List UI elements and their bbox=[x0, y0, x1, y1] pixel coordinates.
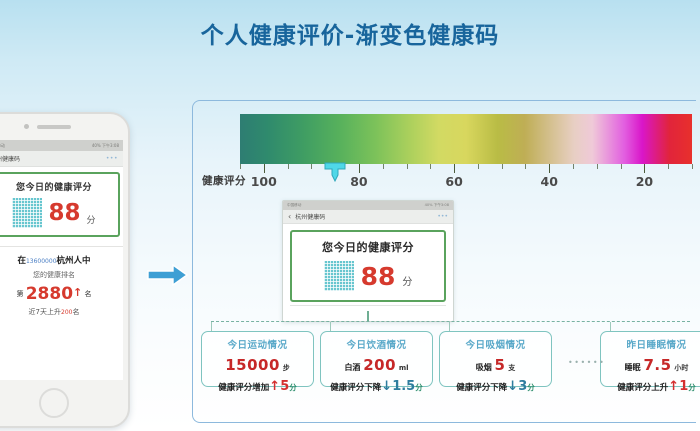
qr-code-icon[interactable] bbox=[12, 198, 42, 228]
rank-value: 2880 bbox=[26, 284, 73, 304]
metric-effect-unit: 分 bbox=[527, 383, 535, 392]
right-arrow-icon bbox=[146, 262, 190, 288]
metric-effect-value: 1.5 bbox=[392, 379, 415, 394]
rank-trend-value: 200 bbox=[61, 309, 72, 316]
scale-tick-minor bbox=[597, 164, 598, 169]
qr-code-icon[interactable] bbox=[324, 261, 354, 291]
gradient-bar bbox=[240, 114, 692, 164]
metric-effect-value: 3 bbox=[518, 379, 527, 394]
mini-health-card: 中国移动 40% 下午3:08 ‹ 杭州健康码 ••• 您今日的健康评分 88 … bbox=[282, 200, 454, 322]
scale-tick-major bbox=[549, 164, 550, 173]
metric-value: 7.5 bbox=[643, 356, 671, 374]
metric-effect-arrow-icon: ↓ bbox=[507, 379, 518, 394]
phone-statusbar: 中国移动 40% 下午3:08 bbox=[0, 140, 123, 151]
metric-effect-arrow-icon: ↑ bbox=[269, 379, 280, 394]
metric-effect-row: 健康评分上升↑1分 bbox=[601, 379, 700, 394]
scale-tick-minor bbox=[692, 164, 693, 169]
mini-navbar-title: 杭州健康码 bbox=[295, 212, 325, 221]
mini-statusbar-carrier: 中国移动 bbox=[287, 203, 301, 208]
metric-effect-label: 健康评分增加 bbox=[218, 383, 269, 393]
phone-navbar: 杭州健康码 ••• bbox=[0, 151, 123, 167]
rank-caption: 您的健康排名 bbox=[0, 270, 120, 280]
metric-value-prefix: 白酒 bbox=[344, 363, 360, 372]
scale-tick-label: 20 bbox=[636, 174, 653, 189]
scale-tick-label: 40 bbox=[541, 174, 558, 189]
mini-score-card: 您今日的健康评分 88 分 bbox=[290, 230, 446, 302]
page-title: 个人健康评价-渐变色健康码 bbox=[0, 16, 700, 50]
scale-tick-minor bbox=[478, 164, 479, 169]
scale-tick-minor bbox=[525, 164, 526, 169]
mini-statusbar-battery: 40% 下午3:08 bbox=[425, 203, 449, 208]
rank-up-arrow-icon: ↑ bbox=[73, 286, 82, 299]
metric-value: 15000 bbox=[225, 356, 280, 374]
scale-tick-major bbox=[644, 164, 645, 173]
scale-tick-minor bbox=[621, 164, 622, 169]
scale-tick-major bbox=[359, 164, 360, 173]
mini-navbar: ‹ 杭州健康码 ••• bbox=[283, 210, 453, 224]
metric-unit: 支 bbox=[508, 364, 515, 372]
metric-box[interactable]: 昨日睡眠情况睡眠 7.5 小时健康评分上升↑1分 bbox=[600, 331, 700, 387]
scale-tick-minor bbox=[502, 164, 503, 169]
scale-caption: 健康评分 bbox=[202, 173, 246, 188]
phone-top-bezel bbox=[0, 114, 128, 140]
connector-dashed-line bbox=[211, 321, 690, 322]
metric-value-row: 15000 步 bbox=[202, 356, 313, 374]
phone-camera-icon bbox=[24, 124, 29, 129]
metric-effect-arrow-icon: ↓ bbox=[381, 379, 392, 394]
metric-effect-unit: 分 bbox=[415, 383, 423, 392]
metric-title: 今日饮酒情况 bbox=[321, 337, 432, 351]
scale-marker-icon[interactable] bbox=[324, 162, 346, 182]
metric-effect-arrow-icon: ↑ bbox=[668, 379, 679, 394]
mini-score-value: 88 bbox=[361, 264, 396, 289]
mini-card-body: 您今日的健康评分 88 分 bbox=[283, 224, 453, 321]
scale-tick-labels: 10080604020 bbox=[240, 174, 692, 190]
phone-mockup: 中国移动 40% 下午3:08 杭州健康码 ••• 您今日的健康评分 88 分 … bbox=[0, 112, 130, 428]
metric-value-row: 睡眠 7.5 小时 bbox=[601, 356, 700, 374]
scale-tick-minor bbox=[240, 164, 241, 169]
metric-title: 昨日睡眠情况 bbox=[601, 337, 700, 351]
metric-value-prefix: 吸烟 bbox=[476, 363, 492, 372]
scale-tick-minor bbox=[311, 164, 312, 169]
rank-trend-unit: 名 bbox=[72, 308, 79, 316]
statusbar-carrier: 中国移动 bbox=[0, 143, 5, 149]
mini-more-options-icon[interactable]: ••• bbox=[437, 213, 448, 220]
health-score-card: 您今日的健康评分 88 分 bbox=[0, 172, 120, 237]
scale-tick-label: 80 bbox=[350, 174, 367, 189]
metric-box[interactable]: 今日吸烟情况吸烟 5 支健康评分下降↓3分 bbox=[439, 331, 552, 387]
metric-effect-label: 健康评分上升 bbox=[617, 383, 668, 393]
rank-ordinal-suffix: 名 bbox=[85, 290, 92, 298]
metric-value: 200 bbox=[363, 356, 396, 374]
rank-trend-line: 近7天上升200名 bbox=[0, 307, 120, 317]
health-score-row: 88 分 bbox=[0, 198, 115, 228]
scale-tick-major bbox=[454, 164, 455, 173]
scale-tick-major bbox=[264, 164, 265, 173]
metric-value-prefix: 睡眠 bbox=[625, 363, 641, 372]
chevron-left-icon[interactable]: ‹ bbox=[288, 212, 291, 221]
phone-speaker-icon bbox=[37, 125, 71, 129]
health-score-scale: 10080604020 bbox=[240, 114, 692, 190]
metric-effect-label: 健康评分下降 bbox=[330, 383, 381, 393]
rank-prefix: 在 bbox=[17, 256, 26, 266]
scale-tick-minor bbox=[288, 164, 289, 169]
connector-stub bbox=[330, 322, 331, 331]
metric-title: 今日运动情况 bbox=[202, 337, 313, 351]
scale-tick-label: 60 bbox=[445, 174, 462, 189]
metric-effect-row: 健康评分增加↑5分 bbox=[202, 379, 313, 394]
rank-trend-label: 近7天上升 bbox=[29, 308, 61, 316]
metric-unit: 步 bbox=[283, 364, 290, 372]
metric-value: 5 bbox=[495, 356, 506, 374]
connector-stub bbox=[449, 322, 450, 331]
metric-unit: 小时 bbox=[674, 364, 688, 372]
more-metrics-indicator: •••••• bbox=[568, 358, 605, 367]
metric-effect-row: 健康评分下降↓3分 bbox=[440, 379, 551, 394]
connector-stub bbox=[211, 322, 212, 331]
health-rank-block: 在13600000杭州人中 您的健康排名 第 2880↑ 名 近7天上升200名 bbox=[0, 246, 123, 317]
health-score-unit: 分 bbox=[87, 213, 96, 228]
mini-score-unit: 分 bbox=[402, 273, 412, 291]
rank-ordinal-prefix: 第 bbox=[16, 290, 23, 298]
metric-value-row: 白酒 200 ml bbox=[321, 356, 432, 374]
rank-suffix: 杭州人中 bbox=[57, 256, 91, 266]
scale-tick-minor bbox=[383, 164, 384, 169]
connector-stub bbox=[610, 322, 611, 331]
metric-box[interactable]: 今日饮酒情况白酒 200 ml健康评分下降↓1.5分 bbox=[320, 331, 433, 387]
phone-screen: 中国移动 40% 下午3:08 杭州健康码 ••• 您今日的健康评分 88 分 … bbox=[0, 140, 123, 380]
mini-statusbar: 中国移动 40% 下午3:08 bbox=[283, 201, 453, 210]
metric-unit: ml bbox=[399, 364, 409, 372]
metric-effect-label: 健康评分下降 bbox=[456, 383, 507, 393]
health-score-value: 88 bbox=[48, 202, 80, 225]
metric-effect-row: 健康评分下降↓1.5分 bbox=[321, 379, 432, 394]
metric-title: 今日吸烟情况 bbox=[440, 337, 551, 351]
scale-tick-label: 100 bbox=[251, 174, 277, 189]
rank-population: 13600000 bbox=[26, 258, 57, 265]
metric-effect-unit: 分 bbox=[289, 383, 297, 392]
scale-tick-minor bbox=[573, 164, 574, 169]
metric-value-row: 吸烟 5 支 bbox=[440, 356, 551, 374]
phone-home-button[interactable] bbox=[39, 388, 69, 418]
metric-box[interactable]: 今日运动情况 15000 步健康评分增加↑5分 bbox=[201, 331, 314, 387]
scale-tick-minor bbox=[668, 164, 669, 169]
scale-tick-minor bbox=[430, 164, 431, 169]
scale-tick-minor bbox=[407, 164, 408, 169]
scale-ticks bbox=[240, 164, 692, 173]
navbar-title: 杭州健康码 bbox=[0, 154, 20, 163]
mini-score-row: 88 分 bbox=[296, 261, 440, 291]
health-score-label: 您今日的健康评分 bbox=[0, 180, 115, 193]
mini-score-label: 您今日的健康评分 bbox=[296, 239, 440, 255]
statusbar-battery: 40% 下午3:08 bbox=[92, 143, 119, 149]
metric-effect-value: 1 bbox=[679, 379, 688, 394]
metric-effect-unit: 分 bbox=[688, 383, 696, 392]
metric-effect-value: 5 bbox=[280, 379, 289, 394]
rank-value-line: 第 2880↑ 名 bbox=[0, 284, 120, 304]
rank-population-line: 在13600000杭州人中 bbox=[0, 254, 120, 266]
more-options-icon[interactable]: ••• bbox=[106, 155, 118, 162]
